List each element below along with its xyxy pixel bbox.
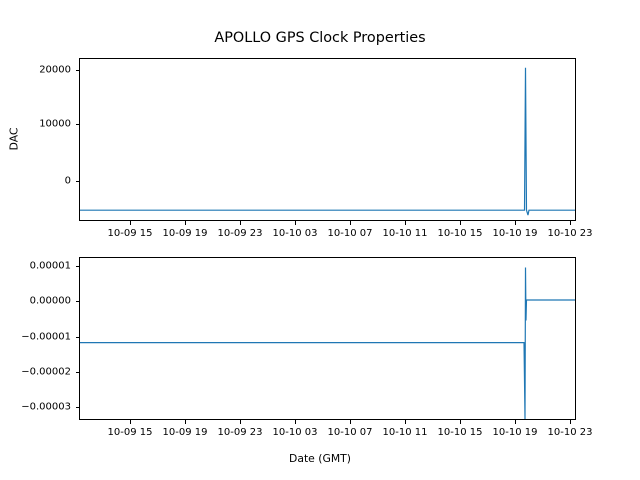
xtick-label-bottom-6: 10-10 15 xyxy=(438,427,483,438)
xtick-label-top-2: 10-09 23 xyxy=(218,228,263,239)
xtick-mark-top-0 xyxy=(130,221,131,225)
ytick-mark-bottom-2 xyxy=(76,337,80,338)
xtick-label-top-7: 10-10 19 xyxy=(493,228,538,239)
matplotlib-figure: APOLLO GPS Clock Properties 20000 10000 … xyxy=(0,0,640,480)
ytick-label-bottom-1: 0.00000 xyxy=(6,296,71,307)
xtick-mark-bottom-0 xyxy=(130,420,131,424)
ytick-label-bottom-3: −0.00002 xyxy=(6,367,71,378)
xtick-label-bottom-8: 10-10 23 xyxy=(548,427,593,438)
dac-plot-axes xyxy=(79,58,576,221)
xtick-label-top-5: 10-10 11 xyxy=(383,228,428,239)
xtick-mark-top-5 xyxy=(405,221,406,225)
chart-title: APOLLO GPS Clock Properties xyxy=(0,30,640,46)
xtick-mark-top-4 xyxy=(350,221,351,225)
ytick-label-bottom-0: 0.00001 xyxy=(6,261,71,272)
xtick-label-bottom-3: 10-10 03 xyxy=(273,427,318,438)
ytick-mark-top-10000 xyxy=(76,124,80,125)
xtick-label-bottom-4: 10-10 07 xyxy=(328,427,373,438)
xtick-label-top-1: 10-09 19 xyxy=(163,228,208,239)
ytick-mark-bottom-3 xyxy=(76,372,80,373)
xtick-label-top-0: 10-09 15 xyxy=(108,228,153,239)
xtick-mark-top-8 xyxy=(570,221,571,225)
xtick-mark-top-3 xyxy=(295,221,296,225)
dac-series-line xyxy=(80,59,575,220)
ytick-mark-bottom-4 xyxy=(76,407,80,408)
xtick-label-top-3: 10-10 03 xyxy=(273,228,318,239)
xtick-mark-bottom-4 xyxy=(350,420,351,424)
xtick-mark-bottom-6 xyxy=(460,420,461,424)
clock-rate-series-line xyxy=(80,258,575,419)
clock-rate-plot-axes xyxy=(79,257,576,420)
xtick-label-top-6: 10-10 15 xyxy=(438,228,483,239)
xtick-label-bottom-1: 10-09 19 xyxy=(163,427,208,438)
ytick-mark-top-0 xyxy=(76,181,80,182)
ytick-label-top-20000: 20000 xyxy=(16,65,71,76)
xtick-mark-top-2 xyxy=(240,221,241,225)
y-axis-label-dac: DAC xyxy=(8,128,21,151)
xtick-mark-bottom-3 xyxy=(295,420,296,424)
ytick-mark-bottom-0 xyxy=(76,266,80,267)
xtick-mark-bottom-5 xyxy=(405,420,406,424)
xtick-mark-top-7 xyxy=(515,221,516,225)
ytick-mark-top-20000 xyxy=(76,70,80,71)
x-axis-label-date: Date (GMT) xyxy=(0,452,640,465)
xtick-label-bottom-0: 10-09 15 xyxy=(108,427,153,438)
xtick-mark-bottom-1 xyxy=(185,420,186,424)
ytick-label-bottom-4: −0.00003 xyxy=(6,402,71,413)
xtick-label-bottom-5: 10-10 11 xyxy=(383,427,428,438)
ytick-label-top-0: 0 xyxy=(16,176,71,187)
xtick-mark-bottom-8 xyxy=(570,420,571,424)
ytick-label-top-10000: 10000 xyxy=(16,119,71,130)
xtick-label-bottom-7: 10-10 19 xyxy=(493,427,538,438)
xtick-mark-top-6 xyxy=(460,221,461,225)
xtick-mark-top-1 xyxy=(185,221,186,225)
xtick-label-top-4: 10-10 07 xyxy=(328,228,373,239)
xtick-label-bottom-2: 10-09 23 xyxy=(218,427,263,438)
xtick-mark-bottom-7 xyxy=(515,420,516,424)
xtick-mark-bottom-2 xyxy=(240,420,241,424)
ytick-label-bottom-2: −0.00001 xyxy=(6,332,71,343)
ytick-mark-bottom-1 xyxy=(76,301,80,302)
xtick-label-top-8: 10-10 23 xyxy=(548,228,593,239)
